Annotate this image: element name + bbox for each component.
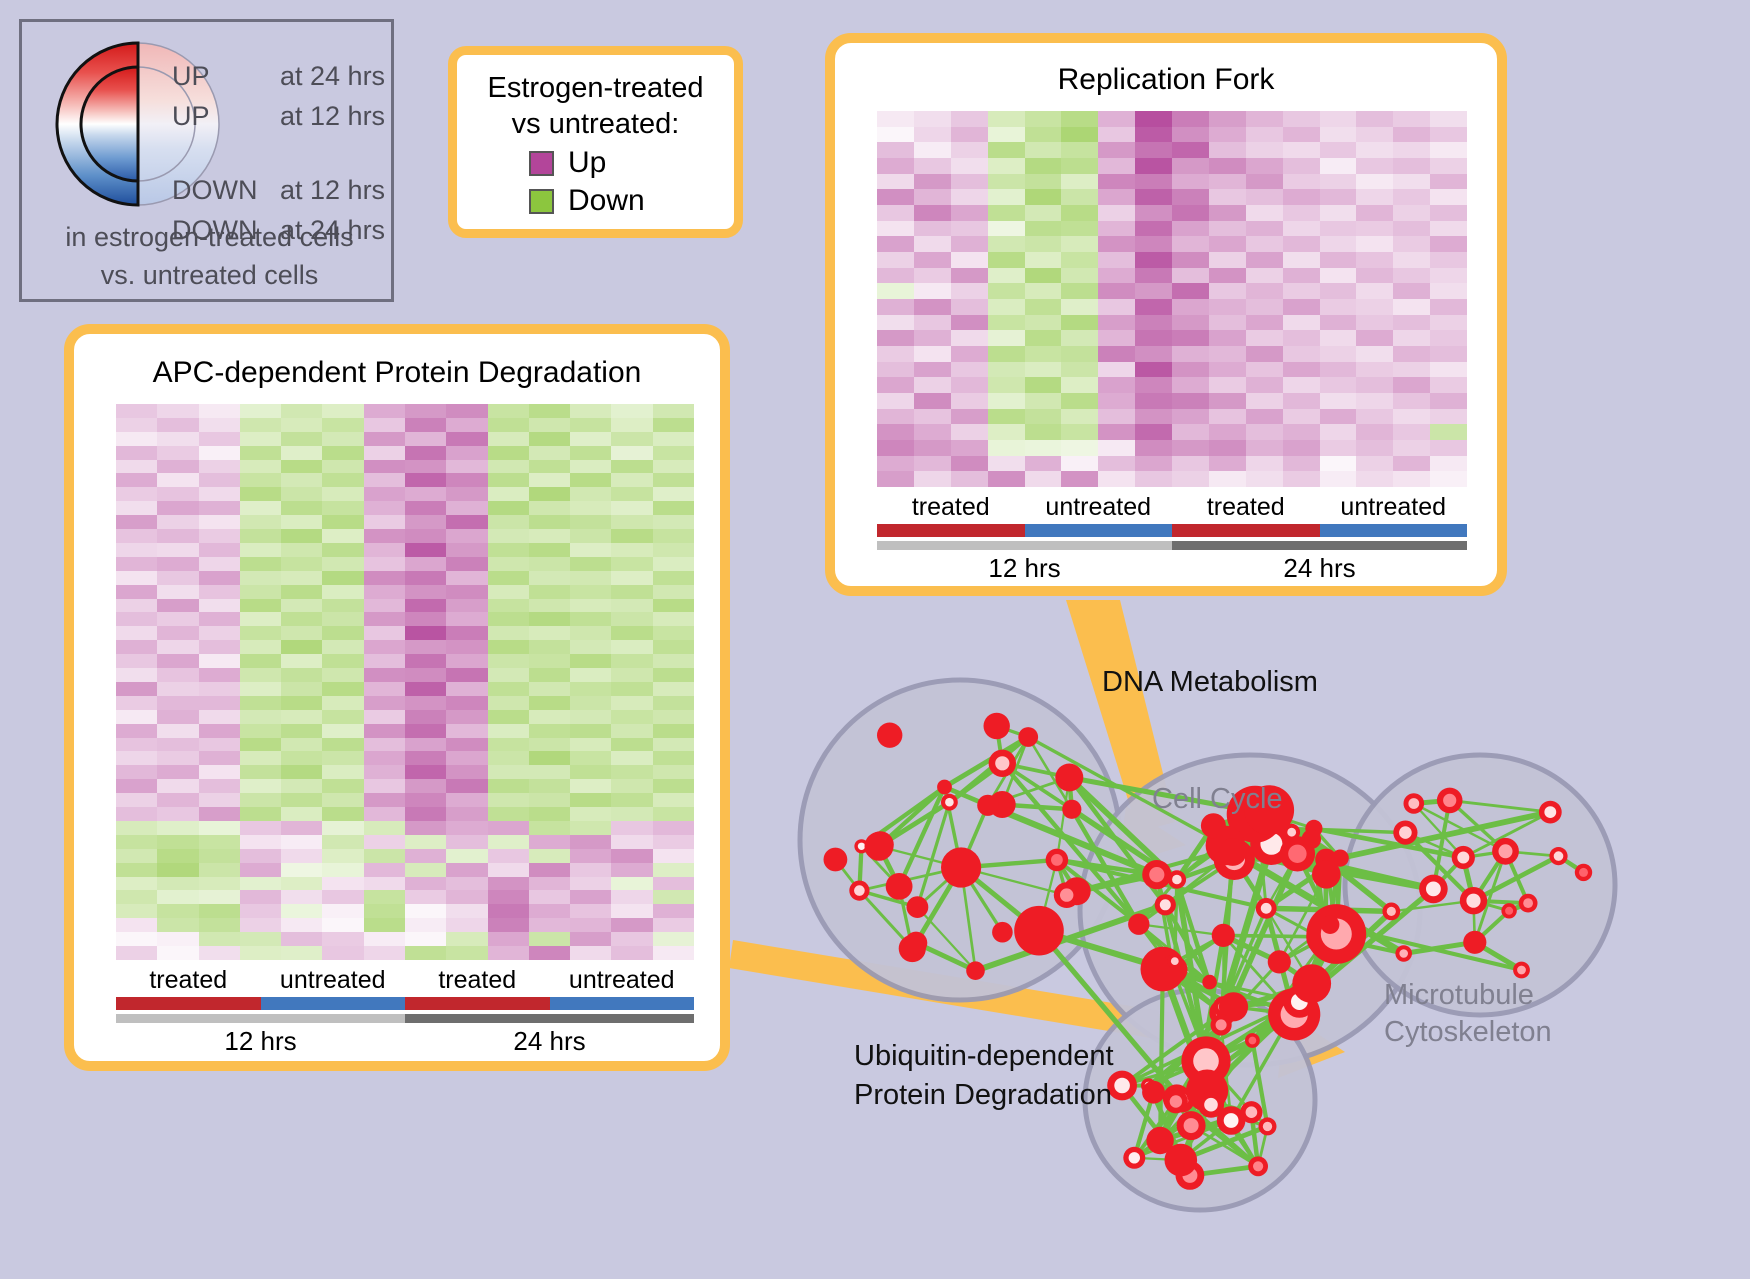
heatmap-cell [446,682,487,696]
heatmap-cell [116,849,157,863]
heatmap-cell [1320,205,1357,221]
heatmap-cell [1135,111,1172,127]
network-node[interactable] [1177,1111,1206,1140]
heatmap-cell [240,571,281,585]
heatmap-cell [1430,174,1467,190]
network-node[interactable] [984,713,1010,739]
heatmap-cell [240,877,281,891]
heatmap-cell [322,571,363,585]
network-node[interactable] [1404,793,1425,814]
network-node[interactable] [1549,847,1567,865]
heatmap-cell [1393,299,1430,315]
network-node[interactable] [849,881,869,901]
heatmap-cell [1283,283,1320,299]
heatmap-cell [240,904,281,918]
heatmap-cell [988,456,1025,472]
heatmap-cell [951,189,988,205]
heatmap-cell [281,849,322,863]
heatmap-cell [529,779,570,793]
network-node[interactable] [1463,931,1486,954]
heatmap-cell [1061,346,1098,362]
heatmap-cell [914,189,951,205]
time-bar-12hrs [877,541,1172,550]
network-node[interactable] [1123,1147,1145,1169]
network-node[interactable] [1437,788,1463,814]
network-node[interactable] [1201,813,1226,838]
heatmap-cell [570,612,611,626]
time-label: 24 hrs [405,1026,694,1057]
time-bar-12hrs [116,1014,405,1023]
heatmap-cell [951,471,988,487]
heatmap-cell [1209,174,1246,190]
heatmap-cell [446,849,487,863]
network-node[interactable] [1321,915,1340,934]
heatmap-cell [364,738,405,752]
heatmap-cell [322,612,363,626]
heatmap-cell [240,515,281,529]
heatmap-cell [988,362,1025,378]
network-node[interactable] [977,795,998,816]
heatmap-cell [1246,221,1283,237]
heatmap-cell [653,724,694,738]
heatmap-cell [240,779,281,793]
heatmap-cell [1283,299,1320,315]
network-label-dna-metabolism: DNA Metabolism [1102,666,1318,699]
heatmap-cell [529,710,570,724]
time-color-bar-replication-fork [877,541,1467,550]
heatmap-cell [281,543,322,557]
heatmap-cell [1430,283,1467,299]
heatmap-cell [914,456,951,472]
network-node[interactable] [1211,1014,1232,1035]
heatmap-cell [322,460,363,474]
network-node[interactable] [1312,860,1341,889]
heatmap-cell [529,626,570,640]
network-node[interactable] [1492,838,1519,865]
heatmap-cell [281,640,322,654]
heatmap-cell [1283,221,1320,237]
network-node[interactable] [1306,904,1366,964]
heatmap-cell [653,710,694,724]
heatmap-cell [1283,330,1320,346]
heatmap-cell [116,557,157,571]
network-node[interactable] [1292,964,1331,1003]
heatmap-cell [529,682,570,696]
heatmap-cell [611,863,652,877]
heatmap-cell [157,807,198,821]
heatmap-cell [240,612,281,626]
heatmap-cell [653,446,694,460]
heatmap-cell [1135,127,1172,143]
heatmap-cell [1098,189,1135,205]
heatmap-cell [1393,252,1430,268]
heatmap-cell [281,626,322,640]
heatmap-cell [611,932,652,946]
heatmap-cell [611,793,652,807]
heatmap-cell [281,932,322,946]
heatmap-cell [1283,189,1320,205]
heatmap-cell [653,821,694,835]
heatmap-cell [405,918,446,932]
heatmap-cell [446,877,487,891]
colorbar-legend-box: UP at 24 hrs UP at 12 hrs DOWN at 12 hrs… [19,19,394,302]
heatmap-cell [1025,315,1062,331]
network-node[interactable] [1014,906,1064,956]
heatmap-cell [1393,377,1430,393]
heatmap-cell [914,268,951,284]
network-node[interactable] [1395,945,1412,962]
heatmap-cell [199,612,240,626]
heatmap-cell [240,918,281,932]
heatmap-cell [1172,330,1209,346]
heatmap-cell [1393,330,1430,346]
group-bar-treated-12 [116,997,261,1010]
heatmap-cell [1061,362,1098,378]
heatmap-cell [446,501,487,515]
heatmap-cell [1172,471,1209,487]
heatmap-cell [1098,268,1135,284]
heatmap-cell [199,724,240,738]
heatmap-cell [446,751,487,765]
heatmap-cell [488,501,529,515]
panel-apc-degradation: APC-dependent Protein Degradation treate… [64,324,730,1071]
heatmap-cell [988,330,1025,346]
network-node[interactable] [1268,950,1291,973]
heatmap-cell [322,418,363,432]
heatmap-cell [570,904,611,918]
network-node[interactable] [1460,887,1487,914]
heatmap-cell [1025,283,1062,299]
heatmap-cell [1283,174,1320,190]
heatmap-cell [157,473,198,487]
heatmap-cell [653,682,694,696]
heatmap-cell [1025,268,1062,284]
heatmap-cell [1320,377,1357,393]
heatmap-cell [240,835,281,849]
heatmap-cell [1098,283,1135,299]
network-node[interactable] [886,873,913,900]
heatmap-cell [199,404,240,418]
heatmap-cell [611,946,652,960]
heatmap-cell [1320,330,1357,346]
heatmap-cell [446,710,487,724]
heatmap-cell [1320,424,1357,440]
heatmap-cell [1393,409,1430,425]
network-node[interactable] [1202,975,1217,990]
heatmap-cell [488,710,529,724]
network-node[interactable] [1393,821,1417,845]
heatmap-cell [364,779,405,793]
heatmap-cell [364,529,405,543]
heatmap-cell [653,543,694,557]
heatmap-cell [405,821,446,835]
heatmap-cell [1209,252,1246,268]
heatmap-cell [281,460,322,474]
heatmap-cell [653,654,694,668]
heatmap-cell [157,668,198,682]
heatmap-cell [529,529,570,543]
heatmap-cell [529,849,570,863]
heatmap-cell [1135,283,1172,299]
network-node[interactable] [1513,962,1530,979]
heatmap-cell [988,221,1025,237]
heatmap-cell [157,793,198,807]
heatmap-cell [1025,424,1062,440]
heatmap-cell [322,890,363,904]
legend-row-up-12: UP at 12 hrs [172,96,397,136]
heatmap-cell [199,807,240,821]
heatmap-cell [653,807,694,821]
network-node[interactable] [1501,903,1516,918]
network-node[interactable] [1142,860,1171,889]
heatmap-cell [364,418,405,432]
heatmap-cell [1283,471,1320,487]
network-node[interactable] [1128,914,1149,935]
network-node[interactable] [941,847,981,887]
network-node[interactable] [1142,1081,1165,1104]
heatmap-cell [1283,424,1320,440]
network-node[interactable] [1167,954,1182,969]
network-node[interactable] [1165,1144,1198,1177]
heatmap-cell [1283,377,1320,393]
network-node[interactable] [865,832,894,861]
heatmap-cell [988,283,1025,299]
heatmap-cell [281,571,322,585]
network-node[interactable] [1155,894,1176,915]
heatmap-cell [1025,127,1062,143]
heatmap-cell [1393,189,1430,205]
network-node[interactable] [1219,838,1247,866]
heatmap-cell [488,738,529,752]
heatmap-cell [1135,456,1172,472]
heatmap-cell [653,501,694,515]
network-node[interactable] [1248,1156,1268,1176]
network-node[interactable] [1419,875,1448,904]
heatmap-cell [240,543,281,557]
heatmap-cell [611,654,652,668]
heatmap-cell [322,473,363,487]
heatmap-cell [322,932,363,946]
heatmap-cell [322,501,363,515]
heatmap-cell [1246,330,1283,346]
heatmap-cell [199,863,240,877]
heatmap-cell [364,446,405,460]
heatmap-cell [322,529,363,543]
heatmap-cell [914,236,951,252]
heatmap-cell [529,473,570,487]
pathway-network [780,620,1740,1279]
network-node[interactable] [1280,836,1315,871]
up-label: Up [568,146,606,180]
heatmap-cell [488,751,529,765]
heatmap-cell [322,668,363,682]
heatmap-cell [1098,299,1135,315]
heatmap-cell [322,779,363,793]
network-node[interactable] [1575,864,1592,881]
heatmap-cell [1025,189,1062,205]
heatmap-cell [1098,236,1135,252]
heatmap-cell [1393,221,1430,237]
heatmap-cell [570,446,611,460]
heatmap-cell [1209,377,1246,393]
group-bar-untreated-24 [1320,524,1468,537]
network-node[interactable] [1539,801,1562,824]
heatmap-cell [116,668,157,682]
heatmap-cell [877,127,914,143]
network-node[interactable] [989,750,1016,777]
network-node[interactable] [824,848,848,872]
heatmap-cell [1135,330,1172,346]
heatmap-cell [951,440,988,456]
heatmap-cell [1209,158,1246,174]
heatmap-cell [116,863,157,877]
heatmap-cell [199,432,240,446]
heatmap-cell [570,599,611,613]
time-color-bar-apc [116,1014,694,1023]
heatmap-cell [199,599,240,613]
heatmap-cell [1320,236,1357,252]
network-node[interactable] [1055,764,1083,792]
heatmap-cell [488,793,529,807]
network-node[interactable] [1519,894,1538,913]
heatmap-cell [951,252,988,268]
network-node[interactable] [1382,903,1400,921]
network-node[interactable] [877,723,902,748]
heatmap-cell [570,668,611,682]
network-node[interactable] [1062,800,1081,819]
heatmap-cell [405,932,446,946]
heatmap-cell [914,330,951,346]
heatmap-cell [488,654,529,668]
heatmap-cell [529,696,570,710]
network-node[interactable] [1245,1033,1260,1048]
heatmap-cell [488,612,529,626]
heatmap-cell [570,724,611,738]
network-node[interactable] [907,896,929,918]
network-node[interactable] [1018,727,1038,747]
network-node[interactable] [1259,1117,1277,1135]
heatmap-cell [1430,330,1467,346]
heatmap-cell [364,904,405,918]
heatmap-cell [116,626,157,640]
heatmap-cell [281,877,322,891]
heatmap-cell [1025,409,1062,425]
heatmap-cell [199,946,240,960]
heatmap-cell [405,793,446,807]
heatmap-cell [988,252,1025,268]
network-node[interactable] [1164,1090,1188,1114]
heatmap-cell [240,724,281,738]
heatmap-cell [914,409,951,425]
heatmap-cell [1172,268,1209,284]
heatmap-cell [322,446,363,460]
heatmap-cell [1209,315,1246,331]
heatmap-cell [1430,111,1467,127]
network-node[interactable] [1046,849,1069,872]
network-node[interactable] [1256,898,1277,919]
network-node[interactable] [1212,924,1235,947]
heatmap-cell [951,377,988,393]
heatmap-cell [199,849,240,863]
network-node[interactable] [937,780,952,795]
group-label: treated [116,966,261,995]
network-node[interactable] [1452,846,1475,869]
network-node[interactable] [1240,1101,1262,1123]
heatmap-cell [1430,158,1467,174]
heatmap-cell [1209,393,1246,409]
heatmap-cell [1283,346,1320,362]
group-bar-treated-24 [405,997,550,1010]
heatmap-cell [653,877,694,891]
network-node[interactable] [1198,1092,1224,1118]
heatmap-cell [1061,221,1098,237]
heatmap-cell [570,779,611,793]
heatmap-cell [1172,409,1209,425]
heatmap-cell [951,205,988,221]
heatmap-cell [405,877,446,891]
heatmap-cell [240,529,281,543]
heatmap-cell [570,890,611,904]
heatmap-cell [240,446,281,460]
heatmap-cell [653,418,694,432]
heatmap-cell [116,404,157,418]
heatmap-cell [1098,424,1135,440]
heatmap-cell [199,543,240,557]
heatmap-cell [199,779,240,793]
network-node[interactable] [905,932,928,955]
heatmap-cell [529,904,570,918]
heatmap-cell [1135,440,1172,456]
heatmap-cell [1061,471,1098,487]
heatmap-cell [405,571,446,585]
heatmap-cell [1025,377,1062,393]
heatmap-cell [1283,393,1320,409]
heatmap-cell [446,918,487,932]
network-node[interactable] [1054,882,1080,908]
heatmap-cell [1283,127,1320,143]
heatmap-cell [405,473,446,487]
heatmap-cell [240,751,281,765]
heatmap-cell [611,404,652,418]
heatmap-cell [322,432,363,446]
heatmap-cell [877,158,914,174]
heatmap-cell [116,543,157,557]
network-node[interactable] [941,794,958,811]
heatmap-cell [157,543,198,557]
network-node[interactable] [992,922,1013,943]
heatmap-cell [914,393,951,409]
heatmap-cell [446,765,487,779]
heatmap-cell [281,654,322,668]
heatmap-cell [611,432,652,446]
heatmap-cell [1172,377,1209,393]
heatmap-cell [1172,440,1209,456]
heatmap-cell [199,487,240,501]
heatmap-cell [157,835,198,849]
heatmap-cell [529,807,570,821]
heatmap-cell [1135,174,1172,190]
heatmap-cell [1209,409,1246,425]
heatmap-cell [1172,205,1209,221]
heatmap-cell [1135,142,1172,158]
heatmap-cell [653,432,694,446]
heatmap-cell [1246,205,1283,221]
heatmap-cell [1356,127,1393,143]
network-node[interactable] [966,961,985,980]
heatmap-cell [1025,252,1062,268]
heatmap-cell [1172,283,1209,299]
heatmap-cell [1098,252,1135,268]
